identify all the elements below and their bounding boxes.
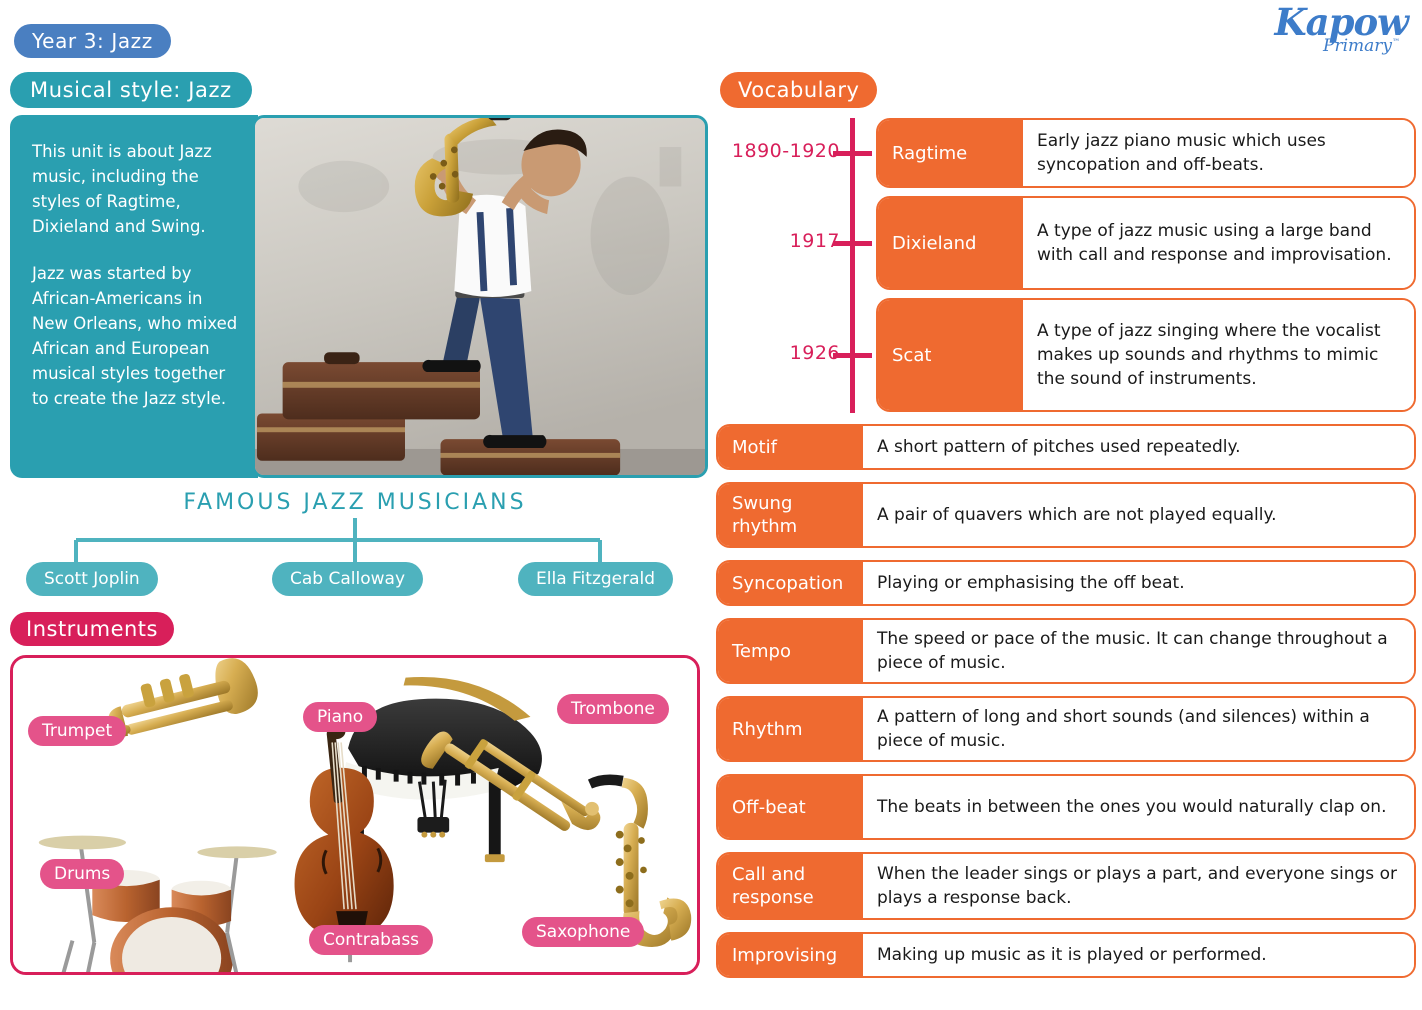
kapow-primary-logo: Kapow Primary™ — [1258, 4, 1408, 64]
vocab-row-syncopation: Syncopation Playing or emphasising the o… — [716, 560, 1416, 606]
intro-paragraph-2: Jazz was started by African-Americans in… — [32, 261, 242, 411]
vocab-row-improvising: Improvising Making up music as it is pla… — [716, 932, 1416, 978]
poster-page: Year 3: Jazz Musical style: Jazz Kapow P… — [0, 0, 1422, 1010]
vocab-row-ragtime: Ragtime Early jazz piano music which use… — [876, 118, 1416, 188]
vocab-definition: A pair of quavers which are not played e… — [863, 484, 1414, 546]
instrument-label-contrabass: Contrabass — [309, 925, 433, 955]
vocab-term: Rhythm — [718, 698, 863, 760]
vocab-definition: The speed or pace of the music. It can c… — [863, 620, 1414, 682]
vocab-definition: A type of jazz singing where the vocalis… — [1023, 300, 1414, 410]
vocab-term: Swung rhythm — [718, 484, 863, 546]
intro-paragraph-1: This unit is about Jazz music, including… — [32, 139, 242, 239]
unit-intro-panel: This unit is about Jazz music, including… — [10, 115, 258, 478]
vocab-term: Motif — [718, 426, 863, 468]
famous-musicians-title: FAMOUS JAZZ MUSICIANS — [0, 490, 710, 515]
instrument-label-piano: Piano — [303, 702, 377, 732]
vocab-row-rhythm: Rhythm A pattern of long and short sound… — [716, 696, 1416, 762]
musicians-connector — [0, 518, 710, 566]
instrument-label-saxophone: Saxophone — [522, 917, 644, 947]
vocab-row-call-and-response: Call and response When the leader sings … — [716, 852, 1416, 920]
vocab-row-motif: Motif A short pattern of pitches used re… — [716, 424, 1416, 470]
vocab-row-scat: Scat A type of jazz singing where the vo… — [876, 298, 1416, 412]
vocab-term: Syncopation — [718, 562, 863, 604]
instrument-label-trombone: Trombone — [557, 694, 669, 724]
vocab-definition: Making up music as it is played or perfo… — [863, 934, 1414, 976]
year-badge: Year 3: Jazz — [14, 24, 171, 58]
vocab-row-swung-rhythm: Swung rhythm A pair of quavers which are… — [716, 482, 1416, 548]
instrument-label-drums: Drums — [40, 859, 124, 889]
trademark-mark: ™ — [1392, 37, 1400, 46]
vocab-definition: A short pattern of pitches used repeated… — [863, 426, 1414, 468]
vocab-term: Dixieland — [878, 198, 1023, 288]
vocab-term: Call and response — [718, 854, 863, 918]
musical-style-badge: Musical style: Jazz — [10, 72, 252, 108]
connector-lines — [0, 518, 710, 566]
instrument-label-trumpet: Trumpet — [28, 716, 126, 746]
timeline-axis — [850, 118, 855, 413]
vocab-row-dixieland: Dixieland A type of jazz music using a l… — [876, 196, 1416, 290]
vocab-term: Off-beat — [718, 776, 863, 838]
vocab-term: Tempo — [718, 620, 863, 682]
musician-scott-joplin: Scott Joplin — [26, 562, 158, 596]
vocab-definition: Early jazz piano music which uses syncop… — [1023, 120, 1414, 186]
vocab-row-tempo: Tempo The speed or pace of the music. It… — [716, 618, 1416, 684]
photo-illustration — [255, 118, 705, 475]
vocab-definition: When the leader sings or plays a part, a… — [863, 854, 1414, 918]
vocab-row-off-beat: Off-beat The beats in between the ones y… — [716, 774, 1416, 840]
vocab-definition: The beats in between the ones you would … — [863, 776, 1414, 838]
musician-cab-calloway: Cab Calloway — [272, 562, 423, 596]
instruments-heading-badge: Instruments — [10, 612, 174, 646]
vocab-term: Scat — [878, 300, 1023, 410]
vocab-term: Ragtime — [878, 120, 1023, 186]
musician-ella-fitzgerald: Ella Fitzgerald — [518, 562, 673, 596]
vocabulary-heading-badge: Vocabulary — [720, 72, 877, 108]
vocab-definition: A pattern of long and short sounds (and … — [863, 698, 1414, 760]
vocab-term: Improvising — [718, 934, 863, 976]
vocab-definition: Playing or emphasising the off beat. — [863, 562, 1414, 604]
vocab-definition: A type of jazz music using a large band … — [1023, 198, 1414, 288]
saxophone-boy-photo — [252, 115, 708, 478]
